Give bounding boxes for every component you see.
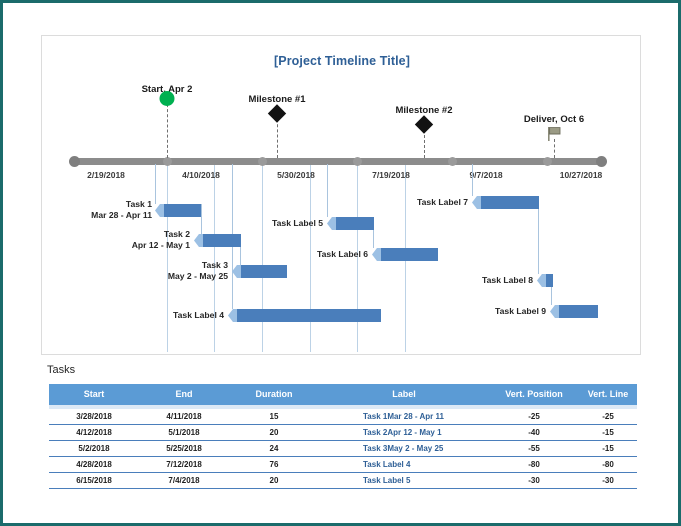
task-bar-fill[interactable] xyxy=(334,217,374,230)
table-cell-vert-position: -80 xyxy=(489,457,579,473)
axis-tick-dot-icon xyxy=(163,157,172,166)
task-bar-row[interactable]: Task Label 6 xyxy=(42,248,642,261)
table-cell-vert-line: -30 xyxy=(579,473,637,489)
black-diamond-icon xyxy=(268,104,286,122)
axis-tick-dot-icon xyxy=(258,157,267,166)
task-bar-label: Task Label 8 xyxy=(459,275,533,286)
axis-end-cap-icon xyxy=(596,156,607,167)
task-bar-label-line1: Task 2 xyxy=(110,229,190,240)
axis-start-cap-icon xyxy=(69,156,80,167)
table-cell-vert-position: -40 xyxy=(489,425,579,441)
green-circle-icon xyxy=(160,91,175,106)
flag-icon xyxy=(545,126,563,147)
table-cell-end: 5/1/2018 xyxy=(139,425,229,441)
table-cell-duration: 24 xyxy=(229,441,319,457)
table-cell-duration: 20 xyxy=(229,425,319,441)
table-cell-start: 5/2/2018 xyxy=(49,441,139,457)
table-cell-vert-line: -80 xyxy=(579,457,637,473)
table-cell-start: 4/28/2018 xyxy=(49,457,139,473)
chart-title: [Project Timeline Title] xyxy=(42,54,642,68)
table-cell-vert-position: -30 xyxy=(489,473,579,489)
table-cell-vert-line: -25 xyxy=(579,409,637,425)
task-bar-row[interactable]: Task 2Apr 12 - May 1 xyxy=(42,234,642,247)
axis-date-label: 7/19/2018 xyxy=(372,170,410,180)
task-bar-fill[interactable] xyxy=(201,234,241,247)
table-cell-end: 7/12/2018 xyxy=(139,457,229,473)
task-bar-row[interactable]: Task Label 9 xyxy=(42,305,642,318)
table-cell-vert-position: -55 xyxy=(489,441,579,457)
task-bar-fill[interactable] xyxy=(557,305,598,318)
table-cell-duration: 20 xyxy=(229,473,319,489)
table-cell-label: Task 2Apr 12 - May 1 xyxy=(319,425,489,441)
table-cell-start: 4/12/2018 xyxy=(49,425,139,441)
task-bar-label: Task Label 5 xyxy=(250,218,323,229)
task-bar-row[interactable]: Task Label 7 xyxy=(42,196,642,209)
table-cell-vert-position: -25 xyxy=(489,409,579,425)
task-bar-label: Task Label 6 xyxy=(294,249,368,260)
table-cell-start: 3/28/2018 xyxy=(49,409,139,425)
table-cell-start: 6/15/2018 xyxy=(49,473,139,489)
table-cell-label: Task 1Mar 28 - Apr 11 xyxy=(319,409,489,425)
axis-tick-dot-icon xyxy=(543,157,552,166)
task-bar-start-cap-icon xyxy=(372,248,381,261)
tasks-table-body: 3/28/20184/11/201815Task 1Mar 28 - Apr 1… xyxy=(49,409,637,489)
axis-date-label: 9/7/2018 xyxy=(469,170,502,180)
milestone-label: Deliver, Oct 6 xyxy=(524,114,584,125)
document-page: [Project Timeline Title] 2/19/20184/10/2… xyxy=(0,0,681,526)
task-bar-label-line1: Task Label 5 xyxy=(250,218,323,229)
table-cell-end: 7/4/2018 xyxy=(139,473,229,489)
task-bar-row[interactable]: Task Label 5 xyxy=(42,217,642,230)
table-row[interactable]: 6/15/20187/4/201820Task Label 5-30-30 xyxy=(49,473,637,489)
tasks-heading: Tasks xyxy=(47,364,75,376)
table-column-header[interactable]: Vert. Line xyxy=(579,384,637,405)
task-bar-label: Task Label 9 xyxy=(472,306,546,317)
task-bar-label-line1: Task 3 xyxy=(148,260,228,271)
task-bar-label-line1: Task Label 7 xyxy=(394,197,468,208)
task-connector-line xyxy=(472,164,473,196)
timeline-chart-panel: [Project Timeline Title] 2/19/20184/10/2… xyxy=(41,35,641,355)
task-bar-label: Task Label 7 xyxy=(394,197,468,208)
table-row[interactable]: 4/28/20187/12/201876Task Label 4-80-80 xyxy=(49,457,637,473)
task-bar-start-cap-icon xyxy=(194,234,203,247)
task-bar-start-cap-icon xyxy=(472,196,481,209)
axis-date-label: 5/30/2018 xyxy=(277,170,315,180)
table-cell-end: 5/25/2018 xyxy=(139,441,229,457)
axis-tick-dot-icon xyxy=(353,157,362,166)
table-column-header[interactable]: End xyxy=(139,384,229,405)
axis-date-label: 4/10/2018 xyxy=(182,170,220,180)
axis-tick-dot-icon xyxy=(448,157,457,166)
task-bar-row[interactable]: Task Label 8 xyxy=(42,274,642,287)
table-cell-duration: 15 xyxy=(229,409,319,425)
task-bar-fill[interactable] xyxy=(379,248,438,261)
task-bar-fill[interactable] xyxy=(479,196,539,209)
milestone-stem-line xyxy=(167,99,168,158)
table-row[interactable]: 5/2/20185/25/201824Task 3May 2 - May 25-… xyxy=(49,441,637,457)
table-cell-label: Task Label 4 xyxy=(319,457,489,473)
table-column-header[interactable]: Vert. Position xyxy=(489,384,579,405)
table-row[interactable]: 3/28/20184/11/201815Task 1Mar 28 - Apr 1… xyxy=(49,409,637,425)
timeline-axis-bar xyxy=(72,158,604,165)
task-bar-start-cap-icon xyxy=(537,274,546,287)
task-bar-label-line1: Task Label 6 xyxy=(294,249,368,260)
task-bar-label-line1: Task Label 8 xyxy=(459,275,533,286)
axis-date-label: 10/27/2018 xyxy=(560,170,603,180)
table-column-header[interactable]: Label xyxy=(319,384,489,405)
table-row[interactable]: 4/12/20185/1/201820Task 2Apr 12 - May 1-… xyxy=(49,425,637,441)
table-cell-duration: 76 xyxy=(229,457,319,473)
task-bar-start-cap-icon xyxy=(327,217,336,230)
table-cell-vert-line: -15 xyxy=(579,441,637,457)
task-bar-label-line1: Task Label 9 xyxy=(472,306,546,317)
table-cell-end: 4/11/2018 xyxy=(139,409,229,425)
black-diamond-icon xyxy=(415,115,433,133)
tasks-table-head: StartEndDurationLabelVert. PositionVert.… xyxy=(49,384,637,409)
tasks-table: StartEndDurationLabelVert. PositionVert.… xyxy=(49,384,637,489)
table-cell-label: Task 3May 2 - May 25 xyxy=(319,441,489,457)
task-bar-start-cap-icon xyxy=(550,305,559,318)
table-column-header[interactable]: Duration xyxy=(229,384,319,405)
table-cell-label: Task Label 5 xyxy=(319,473,489,489)
table-column-header[interactable]: Start xyxy=(49,384,139,405)
tasks-table-header-row: StartEndDurationLabelVert. PositionVert.… xyxy=(49,384,637,405)
table-cell-vert-line: -15 xyxy=(579,425,637,441)
axis-date-label: 2/19/2018 xyxy=(87,170,125,180)
